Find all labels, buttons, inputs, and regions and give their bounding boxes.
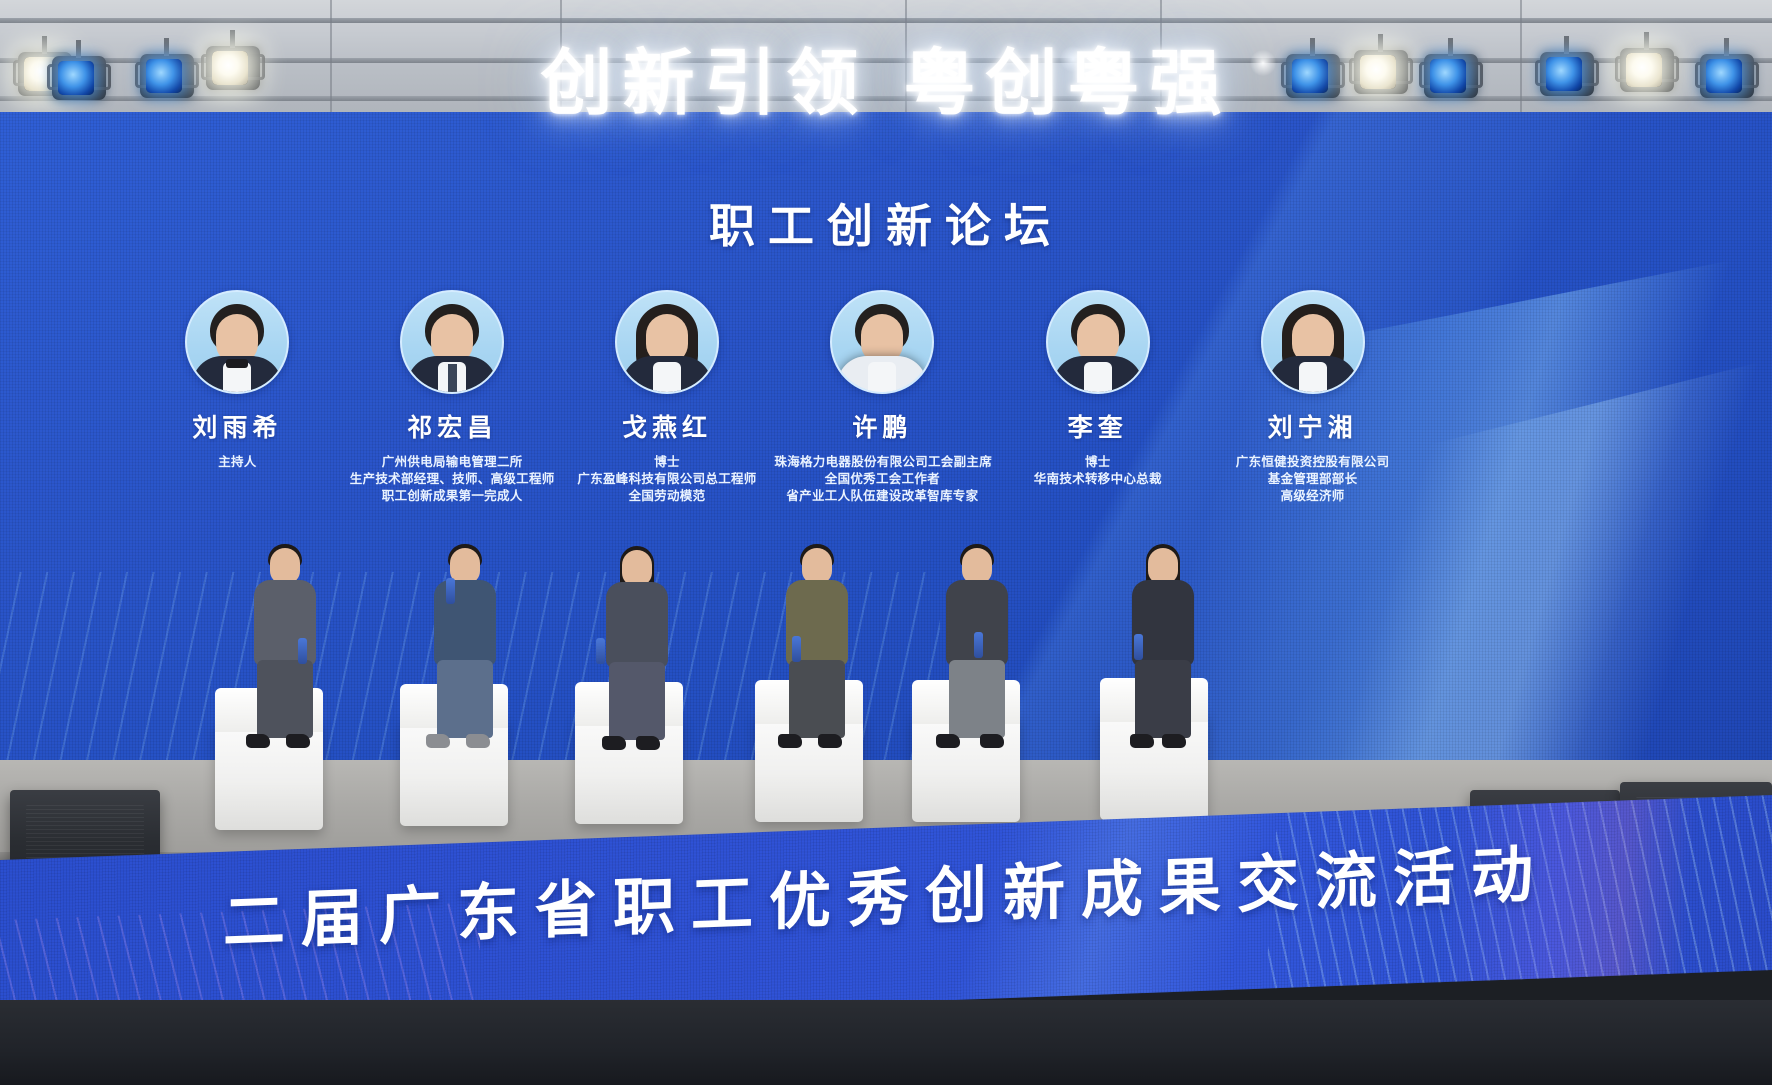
speaker-details: 主持人 xyxy=(130,453,345,470)
speaker-detail-line: 博士 xyxy=(560,453,775,470)
avatar xyxy=(400,290,504,394)
event-photo: 创新引领 粤创粤强 职工创新论坛 刘雨希 主持人 xyxy=(0,0,1772,1085)
stage-base xyxy=(0,1000,1772,1085)
avatar xyxy=(1261,290,1365,394)
speaker-detail-line: 全国劳动模范 xyxy=(560,487,775,504)
stage-light-icon xyxy=(1424,54,1478,98)
speaker-detail-line: 基金管理部部长 xyxy=(1205,470,1420,487)
speaker-card-6: 刘宁湘 广东恒健投资控股有限公司 基金管理部部长 高级经济师 xyxy=(1205,290,1420,504)
speaker-details: 广州供电局输电管理二所 生产技术部经理、技师、高级工程师 职工创新成果第一完成人 xyxy=(345,453,560,504)
forum-title: 职工创新论坛 xyxy=(0,190,1772,256)
stage-light-icon xyxy=(206,46,260,90)
stage-light-icon xyxy=(1620,48,1674,92)
stage-light-icon xyxy=(1354,50,1408,94)
venue-ceiling xyxy=(0,0,1772,122)
avatar xyxy=(185,290,289,394)
speaker-list: 刘雨希 主持人 祁宏昌 广州供电局输电管理二所 生产技术部经理、技师、高级工程师 xyxy=(130,290,1420,504)
speaker-details: 博士 广东盈峰科技有限公司总工程师 全国劳动模范 xyxy=(560,453,775,504)
speaker-card-2: 祁宏昌 广州供电局输电管理二所 生产技术部经理、技师、高级工程师 职工创新成果第… xyxy=(345,290,560,504)
speaker-detail-line: 华南技术转移中心总裁 xyxy=(990,470,1205,487)
speaker-detail-line: 高级经济师 xyxy=(1205,487,1420,504)
speaker-detail-line: 职工创新成果第一完成人 xyxy=(345,487,560,504)
speaker-detail-line: 珠海格力电器股份有限公司工会副主席 xyxy=(774,453,990,470)
speaker-name: 李奎 xyxy=(990,408,1205,444)
speaker-detail-line: 广州供电局输电管理二所 xyxy=(345,453,560,470)
stage-light-icon xyxy=(1540,52,1594,96)
speaker-detail-line: 省产业工人队伍建设改革智库专家 xyxy=(774,487,990,504)
speaker-detail-line: 广东盈峰科技有限公司总工程师 xyxy=(560,470,775,487)
speaker-details: 广东恒健投资控股有限公司 基金管理部部长 高级经济师 xyxy=(1205,453,1420,504)
avatar xyxy=(830,290,934,394)
speaker-detail-line: 主持人 xyxy=(130,453,345,470)
avatar xyxy=(1046,290,1150,394)
speaker-card-1: 刘雨希 主持人 xyxy=(130,290,345,470)
speaker-name: 祁宏昌 xyxy=(345,408,560,444)
speaker-card-4: 许鹏 珠海格力电器股份有限公司工会副主席 全国优秀工会工作者 省产业工人队伍建设… xyxy=(774,290,990,504)
speaker-detail-line: 博士 xyxy=(990,453,1205,470)
speaker-detail-line: 广东恒健投资控股有限公司 xyxy=(1205,453,1420,470)
speaker-name: 刘宁湘 xyxy=(1205,408,1420,444)
avatar xyxy=(615,290,719,394)
stage-light-icon xyxy=(1286,54,1340,98)
speaker-details: 博士 华南技术转移中心总裁 xyxy=(990,453,1205,487)
speaker-name: 戈燕红 xyxy=(560,408,775,444)
speaker-details: 珠海格力电器股份有限公司工会副主席 全国优秀工会工作者 省产业工人队伍建设改革智… xyxy=(774,453,990,504)
stage-light-icon xyxy=(52,56,106,100)
speaker-detail-line: 生产技术部经理、技师、高级工程师 xyxy=(345,470,560,487)
speaker-name: 刘雨希 xyxy=(130,408,345,444)
speaker-card-3: 戈燕红 博士 广东盈峰科技有限公司总工程师 全国劳动模范 xyxy=(560,290,775,504)
speaker-name: 许鹏 xyxy=(774,408,990,444)
speaker-detail-line: 全国优秀工会工作者 xyxy=(774,470,990,487)
stage-light-icon xyxy=(1700,54,1754,98)
stage-light-icon xyxy=(140,54,194,98)
speaker-card-5: 李奎 博士 华南技术转移中心总裁 xyxy=(990,290,1205,487)
